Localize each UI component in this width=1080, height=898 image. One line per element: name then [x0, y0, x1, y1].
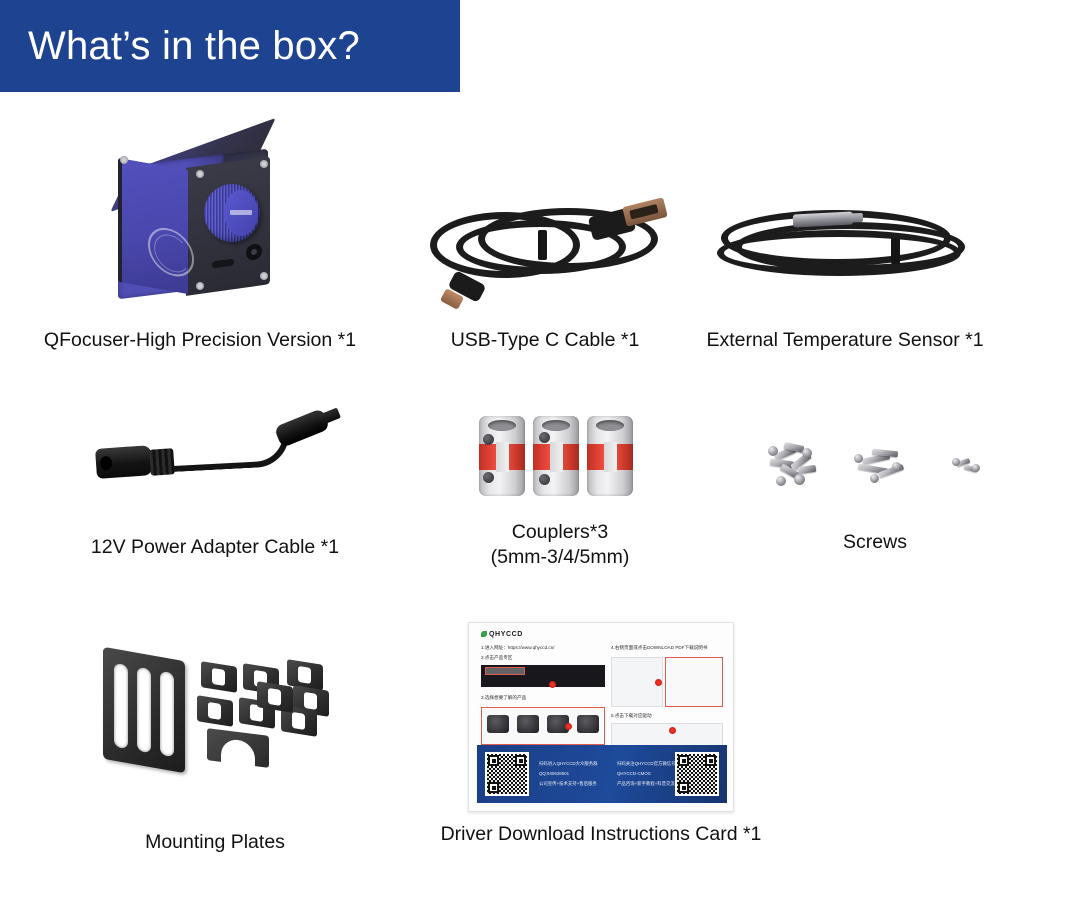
corner-screw-icon [260, 272, 268, 280]
qhyccd-logo-mark-icon [481, 631, 487, 637]
card-pointer-dot [655, 679, 662, 686]
card-screenshot-driver [611, 723, 723, 747]
coupler-set-screw-icon [539, 474, 550, 485]
qfocuser-device-image [100, 132, 300, 307]
coupler-set-screw-icon [539, 432, 550, 443]
screw-head [870, 474, 879, 483]
qr-finder-icon [515, 755, 526, 766]
item-caption: Screws [843, 530, 907, 555]
cable-loop [717, 230, 961, 276]
power-adapter-cable-image [90, 405, 340, 495]
small-mounting-plate [257, 681, 293, 713]
card-product-thumbnail [487, 715, 509, 733]
screw-head [776, 476, 786, 486]
dc-female-jack [95, 445, 153, 479]
item-caption-line-1: Couplers*3 [512, 520, 608, 545]
card-footer: 扫码进入QHYCCD大众服务群 QQ:940628501 公司宣传+技术支持+售… [477, 745, 727, 803]
card-step-3: 3.选择想要了解的产品 [481, 695, 526, 701]
card-pointer-dot [669, 727, 676, 734]
qhyccd-logo-text: QHYCCD [489, 631, 523, 638]
footer-left-line-2: QQ:940628501 [539, 771, 569, 776]
power-cable-wire [169, 432, 291, 472]
qr-code-right[interactable] [675, 752, 719, 796]
title-banner: What’s in the box? [0, 0, 460, 92]
whats-in-the-box-page: What’s in the box? QFocuser-High Precisi… [0, 0, 1080, 898]
card-screenshot-download [665, 657, 723, 707]
small-mounting-plate [197, 695, 233, 727]
product-item-screws: Screws [750, 432, 1000, 502]
qr-code-left[interactable] [485, 752, 529, 796]
qr-finder-icon [488, 755, 499, 766]
jack-strain-relief [149, 448, 175, 476]
card-product-thumbnail [517, 715, 539, 733]
small-mounting-plate [201, 661, 237, 693]
focus-knob [204, 184, 260, 242]
instruction-card-image: QHYCCD 1.进入网址：https://www.qhyccd.cn/ 2.点… [468, 622, 734, 812]
footer-left-line-3: 公司宣传+技术支持+售后服务 [539, 781, 597, 787]
product-item-couplers: Couplers*3 (5mm-3/4/5mm) [475, 408, 645, 508]
card-step-5: 5.点击下载对应驱动 [611, 713, 652, 719]
card-product-thumbnail [577, 715, 599, 733]
qr-finder-icon [488, 782, 499, 793]
coupler-insert [479, 444, 525, 470]
coupler-insert [533, 444, 579, 470]
product-item-usb-cable: USB-Type C Cable *1 [420, 190, 670, 310]
footer-right-line-1: 扫码关注QHYCCD官方微信号 [617, 761, 676, 767]
screw-head [768, 446, 778, 456]
item-caption: 12V Power Adapter Cable *1 [91, 535, 339, 560]
product-item-power-cable: 12V Power Adapter Cable *1 [90, 405, 340, 495]
corner-screw-icon [260, 160, 268, 168]
couplers-image [475, 408, 645, 508]
device-front-face [118, 158, 188, 294]
page-title: What’s in the box? [28, 24, 360, 69]
mounting-plates-image [95, 650, 335, 770]
qr-finder-icon [705, 755, 716, 766]
screw-head [794, 474, 805, 485]
card-pointer-dot [549, 681, 556, 688]
qhyccd-logo: QHYCCD [481, 631, 523, 638]
coupler-unit [479, 416, 525, 496]
plate-slot [137, 667, 151, 753]
knob-brand-label [230, 210, 252, 215]
product-item-qfocuser: QFocuser-High Precision Version *1 [100, 132, 300, 307]
dc-male-plug [274, 408, 330, 448]
coupler-insert [587, 444, 633, 470]
corner-screw-icon [120, 156, 128, 164]
screw-head [854, 454, 863, 463]
item-caption: Mounting Plates [145, 830, 285, 855]
screw-head [952, 458, 960, 466]
cable-tie [538, 230, 547, 260]
cable-tie [891, 238, 900, 264]
screw-head [972, 464, 980, 472]
qr-finder-icon [678, 755, 689, 766]
product-item-instruction-card: QHYCCD 1.进入网址：https://www.qhyccd.cn/ 2.点… [468, 622, 734, 812]
qr-finder-icon [678, 782, 689, 793]
external-temperature-sensor-image [715, 200, 975, 300]
item-caption: USB-Type C Cable *1 [451, 328, 640, 353]
card-pointer-dot [565, 723, 572, 730]
card-step-4: 4.右侧页面或点击DOWNLOAD PDF下载说明书 [611, 645, 707, 651]
corner-screw-icon [196, 282, 204, 290]
coupler-set-screw-icon [483, 472, 494, 483]
coupler-unit [587, 416, 633, 496]
large-mounting-plate [103, 647, 185, 773]
screws-image [750, 432, 1000, 502]
plate-slot [114, 663, 128, 749]
product-item-mounting-plates: Mounting Plates [95, 650, 335, 770]
coupler-set-screw-icon [483, 434, 494, 445]
usb-type-c-cable-image [420, 190, 670, 310]
plate-slot [160, 671, 174, 757]
corner-screw-icon [196, 170, 204, 178]
u-shaped-bracket [207, 728, 269, 768]
product-item-temperature-sensor: External Temperature Sensor *1 [715, 200, 975, 300]
item-caption: Driver Download Instructions Card *1 [441, 822, 762, 847]
card-highlight-box [485, 667, 525, 675]
item-caption-line-2: (5mm-3/4/5mm) [491, 545, 630, 570]
footer-right-line-2: QHYCCD-CMOS [617, 771, 651, 776]
card-step-2: 2.点击产品专区 [481, 655, 512, 661]
coupler-unit [533, 416, 579, 496]
footer-left-line-1: 扫码进入QHYCCD大众服务群 [539, 761, 598, 767]
screw-head [802, 448, 812, 458]
card-step-1: 1.进入网址：https://www.qhyccd.cn/ [481, 645, 555, 651]
item-caption: External Temperature Sensor *1 [706, 328, 983, 353]
footer-right-line-3: 产品咨询+新手教程+科普交流 [617, 781, 675, 787]
screw [798, 465, 817, 474]
item-caption: QFocuser-High Precision Version *1 [44, 328, 356, 353]
screw-head [892, 462, 901, 471]
